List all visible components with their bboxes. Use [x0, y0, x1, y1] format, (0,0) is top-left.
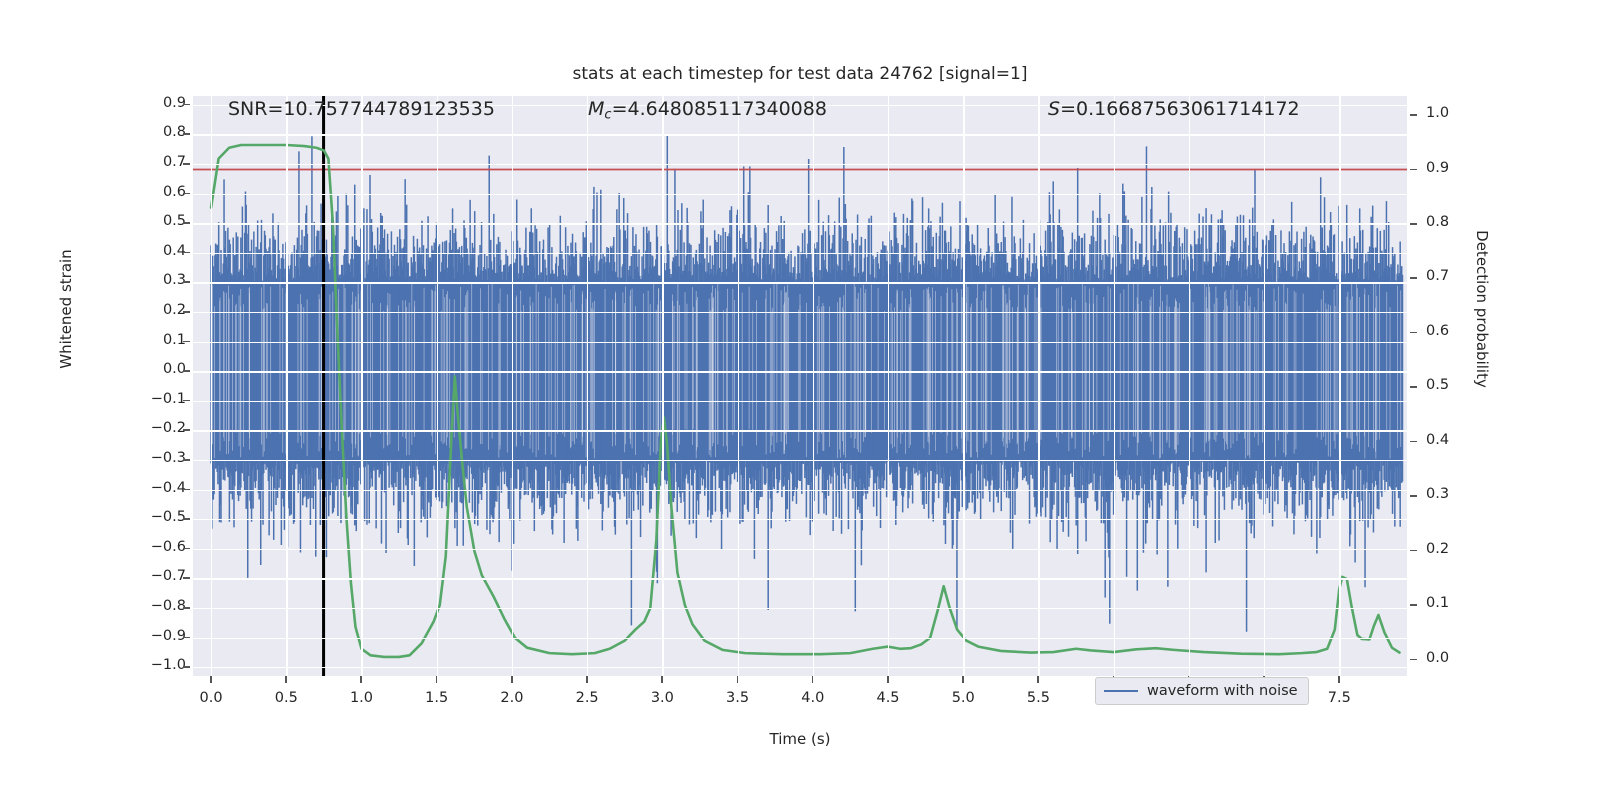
gridline-horizontal	[193, 519, 1407, 520]
gridline-horizontal	[193, 282, 1407, 283]
y-axis-left-tick-mark	[183, 666, 190, 668]
y-axis-left-tick-label: −0.8	[151, 598, 186, 614]
y-axis-right-tick-label: 0.7	[1426, 268, 1449, 284]
y-axis-right-tick-label: 0.0	[1426, 650, 1449, 666]
y-axis-right-tick-mark	[1410, 604, 1417, 606]
matplotlib-figure: stats at each timestep for test data 247…	[0, 0, 1600, 800]
y-axis-left-tick-label: −0.4	[151, 480, 186, 496]
x-axis-tick-label: 7.5	[1309, 690, 1369, 706]
y-axis-left-tick-mark	[183, 341, 190, 343]
gridline-vertical	[361, 96, 362, 676]
gridline-vertical	[587, 96, 588, 676]
y-axis-left-tick-label: 0.7	[163, 154, 186, 170]
gridline-horizontal	[193, 460, 1407, 461]
gridline-vertical	[963, 96, 964, 676]
y-axis-left-label: Whitened strain	[57, 159, 75, 459]
y-axis-left-tick-mark	[183, 222, 190, 224]
y-axis-right-tick-mark	[1410, 114, 1417, 116]
x-axis-tick-label: 5.5	[1008, 690, 1068, 706]
gridline-horizontal	[193, 253, 1407, 254]
x-axis-tick-label: 2.5	[557, 690, 617, 706]
y-axis-left-tick-mark	[183, 459, 190, 461]
legend-label-waveform: waveform with noise	[1147, 683, 1298, 699]
y-axis-left-tick-label: −0.1	[151, 391, 186, 407]
legend-swatch-waveform	[1104, 690, 1138, 692]
x-axis-tick-label: 3.5	[708, 690, 768, 706]
annotation-chirp-mass-eq: =	[612, 98, 628, 120]
annotation-chirp-mass: Mc=4.648085117340088	[588, 98, 827, 122]
y-axis-left-tick-label: −0.3	[151, 450, 186, 466]
y-axis-right-label: Detection probability	[1473, 159, 1491, 459]
y-axis-left-tick-mark	[183, 193, 190, 195]
y-axis-right-tick-mark	[1410, 223, 1417, 225]
gridline-horizontal	[193, 194, 1407, 195]
x-axis-tick-mark	[962, 676, 964, 683]
x-axis-tick-mark	[1037, 676, 1039, 683]
y-axis-left-tick-label: 0.1	[163, 332, 186, 348]
gridline-vertical	[738, 96, 739, 676]
y-axis-left-tick-label: 0.0	[163, 361, 186, 377]
y-axis-right-tick-mark	[1410, 495, 1417, 497]
y-axis-left-tick-label: 0.3	[163, 272, 186, 288]
x-axis-tick-mark	[511, 676, 513, 683]
annotation-chirp-mass-symbol: M	[588, 98, 604, 120]
y-axis-left-tick-mark	[183, 370, 190, 372]
gridline-vertical	[888, 96, 889, 676]
x-axis-tick-mark	[436, 676, 438, 683]
y-axis-left-tick-label: 0.8	[163, 124, 186, 140]
annotation-s-statistic: S=0.16687563061714172	[1048, 98, 1300, 120]
y-axis-left-tick-mark	[183, 607, 190, 609]
y-axis-left-tick-label: −0.7	[151, 568, 186, 584]
y-axis-right-tick-label: 1.0	[1426, 105, 1449, 121]
y-axis-right-tick-mark	[1410, 169, 1417, 171]
gridline-vertical	[286, 96, 287, 676]
x-axis-tick-label: 0.5	[256, 690, 316, 706]
annotation-s-eq: =	[1060, 98, 1076, 120]
gridline-horizontal	[193, 608, 1407, 609]
gridline-horizontal	[193, 223, 1407, 224]
x-axis-label: Time (s)	[0, 730, 1600, 748]
x-axis-tick-label: 0.0	[181, 690, 241, 706]
plot-axes	[193, 96, 1407, 676]
annotation-s-symbol: S	[1048, 98, 1060, 120]
y-axis-right-tick-mark	[1410, 332, 1417, 334]
y-axis-left-tick-label: 0.2	[163, 302, 186, 318]
y-axis-left-tick-mark	[183, 400, 190, 402]
gridline-vertical	[1038, 96, 1039, 676]
x-axis-tick-mark	[360, 676, 362, 683]
gridline-horizontal	[193, 401, 1407, 402]
x-axis-tick-mark	[1338, 676, 1340, 683]
gridline-horizontal	[193, 342, 1407, 343]
gridline-vertical	[662, 96, 663, 676]
page-title: stats at each timestep for test data 247…	[0, 64, 1600, 84]
y-axis-right-tick-label: 0.1	[1426, 595, 1449, 611]
gridline-vertical	[813, 96, 814, 676]
y-axis-right-tick-label: 0.9	[1426, 160, 1449, 176]
annotation-snr: SNR=10.757744789123535	[228, 98, 495, 120]
x-axis-tick-label: 3.0	[632, 690, 692, 706]
y-axis-left-tick-label: 0.6	[163, 184, 186, 200]
y-axis-right-tick-mark	[1410, 659, 1417, 661]
y-axis-left-tick-mark	[183, 281, 190, 283]
gridline-horizontal	[193, 312, 1407, 313]
waveform-with-noise-series	[211, 135, 1402, 631]
annotation-chirp-mass-value: 4.648085117340088	[627, 98, 826, 120]
gridline-horizontal	[193, 371, 1407, 372]
y-axis-right-tick-mark	[1410, 441, 1417, 443]
legend[interactable]: waveform with noise	[1095, 677, 1309, 705]
x-axis-tick-label: 1.5	[407, 690, 467, 706]
gridline-horizontal	[193, 578, 1407, 579]
x-axis-tick-label: 4.5	[858, 690, 918, 706]
y-axis-left-tick-mark	[183, 548, 190, 550]
y-axis-right-tick-label: 0.2	[1426, 541, 1449, 557]
gridline-horizontal	[193, 490, 1407, 491]
y-axis-right-tick-label: 0.8	[1426, 214, 1449, 230]
x-axis-tick-mark	[737, 676, 739, 683]
y-axis-right-tick-label: 0.4	[1426, 432, 1449, 448]
y-axis-left-tick-mark	[183, 429, 190, 431]
x-axis-tick-mark	[586, 676, 588, 683]
y-axis-right-tick-mark	[1410, 386, 1417, 388]
gridline-vertical	[1114, 96, 1115, 676]
y-axis-left-tick-mark	[183, 577, 190, 579]
x-axis-tick-label: 1.0	[331, 690, 391, 706]
gridline-vertical	[1189, 96, 1190, 676]
x-axis-tick-label: 5.0	[933, 690, 993, 706]
y-axis-left-tick-label: 0.4	[163, 243, 186, 259]
x-axis-tick-mark	[210, 676, 212, 683]
gridline-vertical	[437, 96, 438, 676]
gridline-vertical	[1264, 96, 1265, 676]
gridline-horizontal	[193, 667, 1407, 668]
y-axis-left-tick-mark	[183, 104, 190, 106]
y-axis-left-tick-mark	[183, 518, 190, 520]
y-axis-left-tick-label: −0.2	[151, 420, 186, 436]
x-axis-tick-mark	[661, 676, 663, 683]
y-axis-left-tick-mark	[183, 311, 190, 313]
y-axis-right-tick-mark	[1410, 550, 1417, 552]
x-axis-tick-mark	[887, 676, 889, 683]
gridline-vertical	[1339, 96, 1340, 676]
gridline-horizontal	[193, 164, 1407, 165]
y-axis-left-tick-label: 0.9	[163, 95, 186, 111]
y-axis-left-tick-mark	[183, 252, 190, 254]
y-axis-right-tick-label: 0.6	[1426, 323, 1449, 339]
y-axis-left-tick-label: −1.0	[151, 657, 186, 673]
gridline-horizontal	[193, 134, 1407, 135]
y-axis-left-tick-mark	[183, 489, 190, 491]
gridline-vertical	[512, 96, 513, 676]
y-axis-left-tick-mark	[183, 133, 190, 135]
x-axis-tick-label: 2.0	[482, 690, 542, 706]
y-axis-left-tick-mark	[183, 637, 190, 639]
annotation-snr-text: SNR=10.757744789123535	[228, 98, 495, 120]
y-axis-left-tick-label: −0.5	[151, 509, 186, 525]
gridline-horizontal	[193, 638, 1407, 639]
gridline-horizontal	[193, 549, 1407, 550]
y-axis-right-tick-label: 0.3	[1426, 486, 1449, 502]
gridline-vertical	[211, 96, 212, 676]
y-axis-left-tick-mark	[183, 163, 190, 165]
y-axis-left-tick-label: −0.6	[151, 539, 186, 555]
y-axis-right-tick-mark	[1410, 277, 1417, 279]
y-axis-left-tick-label: 0.5	[163, 213, 186, 229]
y-axis-right-tick-label: 0.5	[1426, 377, 1449, 393]
x-axis-tick-label: 4.0	[783, 690, 843, 706]
plot-canvas	[193, 96, 1407, 676]
x-axis-tick-mark	[812, 676, 814, 683]
x-axis-tick-mark	[285, 676, 287, 683]
annotation-s-value: 0.16687563061714172	[1076, 98, 1300, 120]
annotation-chirp-mass-subscript: c	[604, 107, 611, 122]
gridline-horizontal	[193, 430, 1407, 431]
y-axis-left-tick-label: −0.9	[151, 628, 186, 644]
